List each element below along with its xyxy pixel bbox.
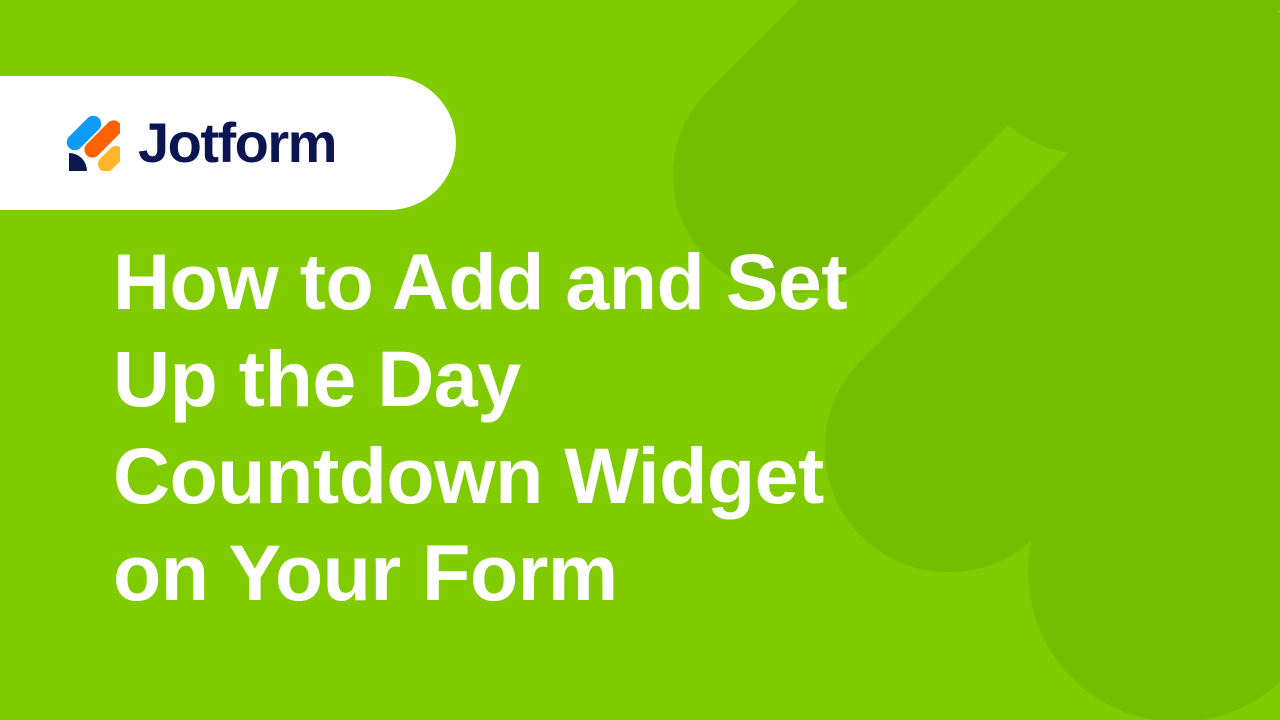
decorative-capsule-5 <box>1158 178 1280 602</box>
brand-lockup: Jotform <box>66 115 336 171</box>
page-title: How to Add and Set Up the Day Countdown … <box>113 233 893 621</box>
title-line-4: on Your Form <box>113 524 893 621</box>
jotform-logo-mark <box>66 115 120 171</box>
title-line-3: Countdown Widget <box>113 427 893 524</box>
decorative-capsule-4 <box>966 176 1280 720</box>
title-line-2: Up the Day <box>113 330 893 427</box>
brand-logo-pill: Jotform <box>0 76 456 210</box>
decorative-capsule-2 <box>919 0 1280 203</box>
title-card: Jotform How to Add and Set Up the Day Co… <box>0 0 1280 720</box>
jotform-wordmark: Jotform <box>138 115 336 171</box>
title-line-1: How to Add and Set <box>113 233 893 330</box>
